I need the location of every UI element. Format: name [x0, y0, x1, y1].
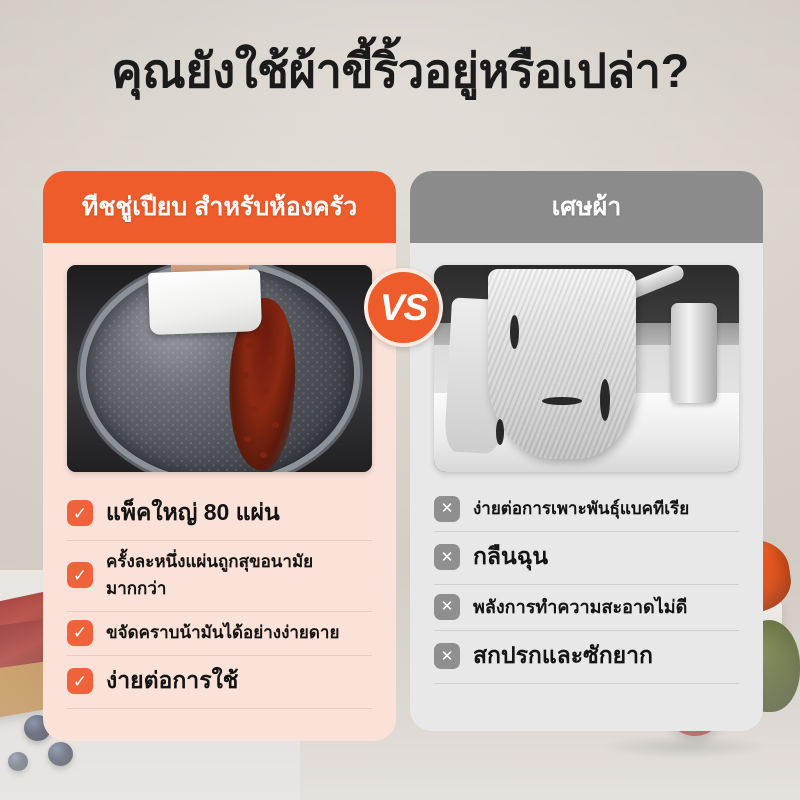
list-item[interactable]: ✓ แพ็คใหญ่ 80 แผ่น: [67, 488, 372, 541]
list-item[interactable]: ✓ ครั้งละหนึ่งแผ่นถูกสุขอนามัยมากกว่า: [67, 541, 372, 612]
vs-badge-label: VS: [380, 287, 427, 329]
list-item[interactable]: ✕ สกปรกและซักยาก: [434, 631, 739, 684]
list-item[interactable]: ✕ พลังการทำความสะอาดไม่ดี: [434, 585, 739, 631]
rag-texture: [488, 269, 636, 459]
list-item-label: สกปรกและซักยาก: [473, 638, 653, 674]
tissue-sheet-image: [148, 269, 262, 335]
right-panel-header: เศษผ้า: [410, 171, 763, 243]
hanging-rag-image: [488, 269, 636, 459]
left-panel-body: ✓ แพ็คใหญ่ 80 แผ่น ✓ ครั้งละหนึ่งแผ่นถูก…: [43, 243, 396, 741]
cross-icon: ✕: [434, 643, 460, 669]
left-panel-header-label: ทีชชู่เปียบ สำหรับห้องครัว: [82, 187, 357, 227]
right-panel-header-label: เศษผ้า: [552, 187, 622, 227]
list-item[interactable]: ✓ ขจัดคราบน้ามันได้อย่างง่ายดาย: [67, 612, 372, 656]
stain-mark: [542, 397, 582, 405]
list-item-label: ง่ายต่อการเพาะพันธุ์แบคทีเรีย: [473, 495, 689, 522]
cross-icon: ✕: [434, 544, 460, 570]
page-title: คุณยังใช้ผ้าขี้ริ้วอยู่หรือเปล่า?: [0, 44, 800, 98]
wok-photo-scene: [67, 265, 372, 472]
check-icon: ✓: [67, 500, 93, 526]
cross-icon: ✕: [434, 496, 460, 522]
faucet-body-image: [671, 303, 717, 403]
list-item[interactable]: ✓ ง่ายต่อการใช้: [67, 656, 372, 709]
list-item[interactable]: ✕ กลืนฉุน: [434, 532, 739, 585]
left-feature-list: ✓ แพ็คใหญ่ 80 แผ่น ✓ ครั้งละหนึ่งแผ่นถูก…: [67, 488, 372, 709]
list-item-label: ขจัดคราบน้ามันได้อย่างง่ายดาย: [106, 619, 339, 646]
list-item-label: ครั้งละหนึ่งแผ่นถูกสุขอนามัยมากกว่า: [106, 548, 372, 602]
list-item-label: ง่ายต่อการใช้: [106, 663, 238, 699]
right-feature-list: ✕ ง่ายต่อการเพาะพันธุ์แบคทีเรีย ✕ กลืนฉุ…: [434, 488, 739, 684]
comparison-panel-product: ทีชชู่เปียบ สำหรับห้องครัว: [43, 171, 396, 741]
cross-icon: ✕: [434, 594, 460, 620]
list-item[interactable]: ✕ ง่ายต่อการเพาะพันธุ์แบคทีเรีย: [434, 488, 739, 532]
stain-mark: [496, 419, 504, 445]
right-panel-body: ✕ ง่ายต่อการเพาะพันธุ์แบคทีเรีย ✕ กลืนฉุ…: [410, 243, 763, 731]
comparison-panel-rag: เศษผ้า ✕ ง่าย: [410, 171, 763, 731]
stain-mark: [510, 315, 519, 349]
check-icon: ✓: [67, 668, 93, 694]
list-item-label: แพ็คใหญ่ 80 แผ่น: [106, 495, 280, 531]
list-item-label: พลังการทำความสะอาดไม่ดี: [473, 592, 687, 621]
product-photo: [67, 265, 372, 472]
sink-photo-scene: [434, 265, 739, 472]
left-panel-header: ทีชชู่เปียบ สำหรับห้องครัว: [43, 171, 396, 243]
check-icon: ✓: [67, 562, 93, 588]
check-icon: ✓: [67, 620, 93, 646]
stain-mark: [600, 379, 610, 421]
vs-badge: VS: [364, 268, 443, 347]
rag-photo: [434, 265, 739, 472]
list-item-label: กลืนฉุน: [473, 539, 548, 575]
